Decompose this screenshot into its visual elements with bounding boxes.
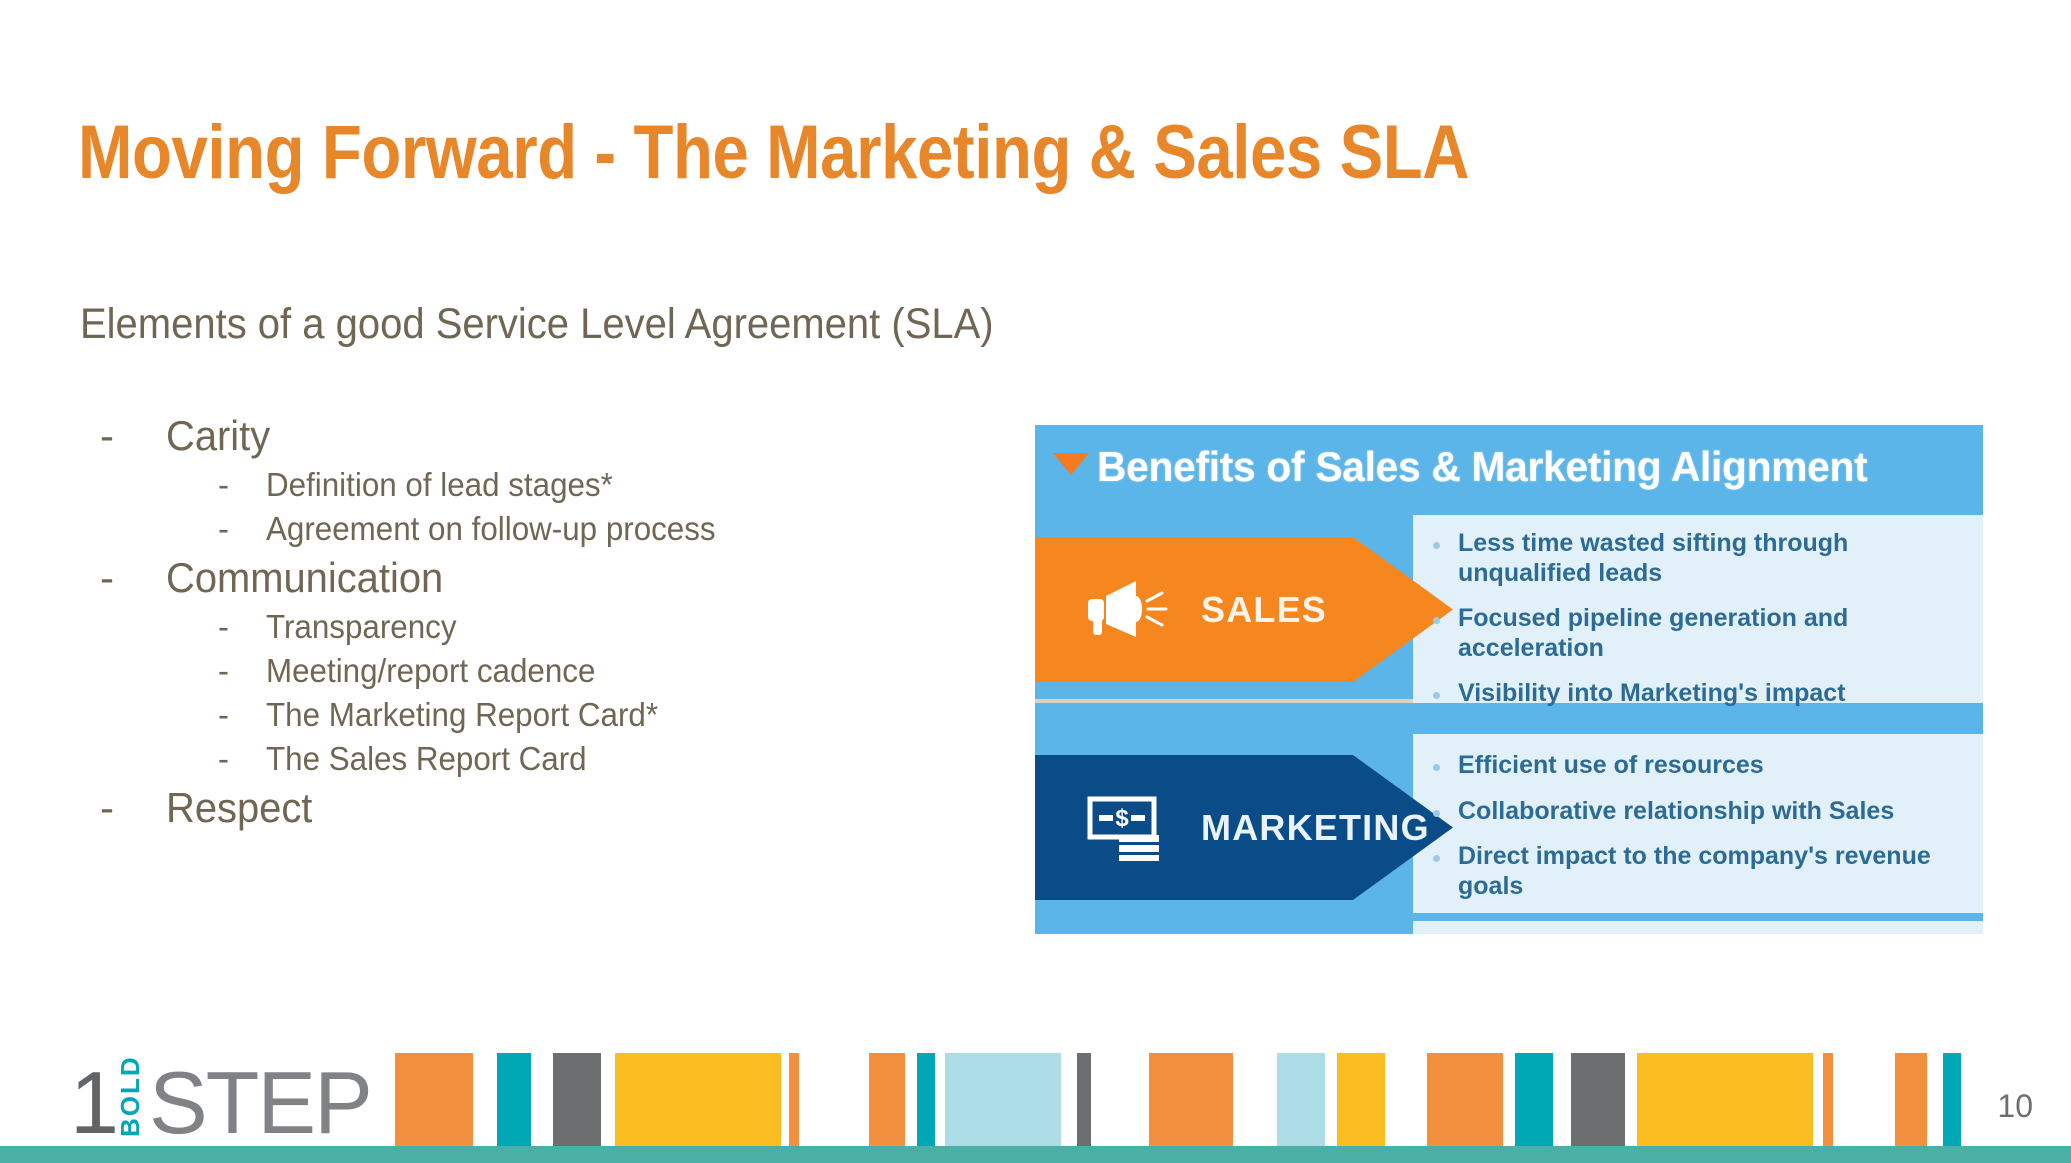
footer-stripe xyxy=(473,1053,497,1146)
sales-arrow: SALES xyxy=(1035,537,1453,682)
bullet-label: Transparency xyxy=(266,608,457,646)
logo-bold-text: BOLD xyxy=(117,1063,143,1137)
footer-stripe xyxy=(945,1053,1061,1146)
benefit-item: Direct impact to the company's revenue g… xyxy=(1433,842,1978,901)
bullet-item: -Agreement on follow-up process xyxy=(218,510,980,548)
footer-stripe xyxy=(905,1053,917,1146)
footer-stripe xyxy=(1553,1053,1571,1146)
footer-stripe xyxy=(799,1053,869,1146)
page-title: Moving Forward - The Marketing & Sales S… xyxy=(78,113,1469,193)
footer-stripe xyxy=(917,1053,935,1146)
bullet-label: Agreement on follow-up process xyxy=(266,510,716,548)
logo-numeral: 1 xyxy=(70,1065,115,1141)
infographic-header-title: Benefits of Sales & Marketing Alignment xyxy=(1097,443,1867,491)
bullet-marker: - xyxy=(100,412,166,460)
marketing-label: MARKETING xyxy=(1201,807,1430,849)
footer-stripe xyxy=(1061,1053,1077,1146)
bullet-item: -Carity xyxy=(100,412,980,460)
megaphone-icon xyxy=(1081,579,1177,641)
footer-stripe xyxy=(553,1053,601,1146)
benefit-text: Less time wasted sifting through unquali… xyxy=(1458,529,1958,588)
infographic-top-strip xyxy=(1035,515,1413,537)
marketing-arrow: $ MARKETING xyxy=(1035,755,1453,900)
bullet-dot-icon xyxy=(1433,692,1440,699)
bullet-item: -Communication xyxy=(100,554,980,602)
footer-stripe xyxy=(1625,1053,1637,1146)
bullet-dot-icon xyxy=(1433,810,1440,817)
footer-stripe xyxy=(531,1053,553,1146)
bullet-marker: - xyxy=(100,554,166,602)
benefit-item: Less time wasted sifting through unquali… xyxy=(1433,529,1978,588)
sales-label: SALES xyxy=(1201,589,1327,631)
marketing-benefit-list: Efficient use of resourcesCollaborative … xyxy=(1433,751,1978,917)
bullet-label: Communication xyxy=(166,554,443,602)
footer-stripe xyxy=(1515,1053,1553,1146)
footer-stripe xyxy=(1943,1053,1961,1146)
benefit-text: Collaborative relationship with Sales xyxy=(1458,797,1894,827)
footer-stripe xyxy=(781,1053,789,1146)
footer-stripe xyxy=(1149,1053,1233,1146)
footer-stripe xyxy=(1823,1053,1833,1146)
bullet-label: Respect xyxy=(166,784,312,832)
footer-stripe xyxy=(1427,1053,1503,1146)
bullet-item: -Definition of lead stages* xyxy=(218,466,980,504)
benefit-text: Visibility into Marketing's impact xyxy=(1458,679,1846,709)
footer-stripe xyxy=(1233,1053,1277,1146)
bullet-label: The Sales Report Card xyxy=(266,740,587,778)
footer-stripe xyxy=(1813,1053,1823,1146)
page-number: 10 xyxy=(1997,1088,2033,1125)
footer-stripe xyxy=(1833,1053,1895,1146)
bullet-dot-icon xyxy=(1433,542,1440,549)
bullet-marker: - xyxy=(218,652,266,690)
footer-stripe xyxy=(1927,1053,1943,1146)
sales-benefit-list: Less time wasted sifting through unquali… xyxy=(1433,529,1978,725)
benefit-item: Efficient use of resources xyxy=(1433,751,1978,781)
infographic-header: Benefits of Sales & Marketing Alignment xyxy=(1035,425,1983,515)
bullet-item: -Respect xyxy=(100,784,980,832)
bullet-dot-icon xyxy=(1433,855,1440,862)
footer-stripe xyxy=(869,1053,905,1146)
benefit-item: Focused pipeline generation and accelera… xyxy=(1433,604,1978,663)
infographic-bottom-strip xyxy=(1035,900,1413,934)
bullet-item: -Meeting/report cadence xyxy=(218,652,980,690)
bullet-label: Carity xyxy=(166,412,270,460)
bullet-marker: - xyxy=(218,696,266,734)
bullet-dot-icon xyxy=(1433,764,1440,771)
bullet-marker: - xyxy=(218,510,266,548)
infographic-body: SALES $ MARK xyxy=(1035,515,1983,934)
footer-stripe xyxy=(1091,1053,1149,1146)
benefit-text: Efficient use of resources xyxy=(1458,751,1764,781)
benefits-infographic: Benefits of Sales & Marketing Alignment xyxy=(1035,425,1983,934)
footer-stripe-pattern xyxy=(395,1053,1801,1146)
bullet-item: -The Sales Report Card xyxy=(218,740,980,778)
bullet-item: -Transparency xyxy=(218,608,980,646)
bullet-marker: - xyxy=(218,740,266,778)
bullet-dot-icon xyxy=(1433,617,1440,624)
footer-stripe xyxy=(497,1053,531,1146)
footer-stripe xyxy=(935,1053,945,1146)
footer-stripe xyxy=(1895,1053,1927,1146)
money-banknote-icon: $ xyxy=(1081,795,1177,861)
footer-stripe xyxy=(1571,1053,1625,1146)
bullet-label: Meeting/report cadence xyxy=(266,652,595,690)
footer-stripe xyxy=(1325,1053,1337,1146)
svg-text:$: $ xyxy=(1115,805,1129,832)
logo-step-text: STEP xyxy=(149,1065,371,1141)
slide-footer: 1 BOLD STEP 10 xyxy=(0,1053,2071,1163)
bullet-marker: - xyxy=(218,608,266,646)
footer-stripe xyxy=(615,1053,781,1146)
footer-stripe xyxy=(1503,1053,1515,1146)
bullet-marker: - xyxy=(218,466,266,504)
footer-stripe xyxy=(395,1053,473,1146)
benefit-item: Visibility into Marketing's impact xyxy=(1433,679,1978,709)
slide-subtitle: Elements of a good Service Level Agreeme… xyxy=(80,300,994,349)
footer-stripe xyxy=(1277,1053,1325,1146)
benefit-text: Direct impact to the company's revenue g… xyxy=(1458,842,1958,901)
bullet-list: -Carity-Definition of lead stages*-Agree… xyxy=(100,412,980,838)
footer-stripe xyxy=(601,1053,615,1146)
footer-stripe xyxy=(1337,1053,1385,1146)
triangle-down-icon xyxy=(1053,453,1089,475)
bullet-item: -The Marketing Report Card* xyxy=(218,696,980,734)
bullet-label: Definition of lead stages* xyxy=(266,466,613,504)
company-logo: 1 BOLD STEP xyxy=(70,1059,371,1141)
benefit-item: Collaborative relationship with Sales xyxy=(1433,797,1978,827)
bullet-marker: - xyxy=(100,784,166,832)
benefit-text: Focused pipeline generation and accelera… xyxy=(1458,604,1958,663)
bullet-label: The Marketing Report Card* xyxy=(266,696,658,734)
footer-stripe xyxy=(1637,1053,1813,1146)
footer-stripe xyxy=(1077,1053,1091,1146)
footer-stripe xyxy=(1385,1053,1427,1146)
footer-stripe xyxy=(789,1053,799,1146)
